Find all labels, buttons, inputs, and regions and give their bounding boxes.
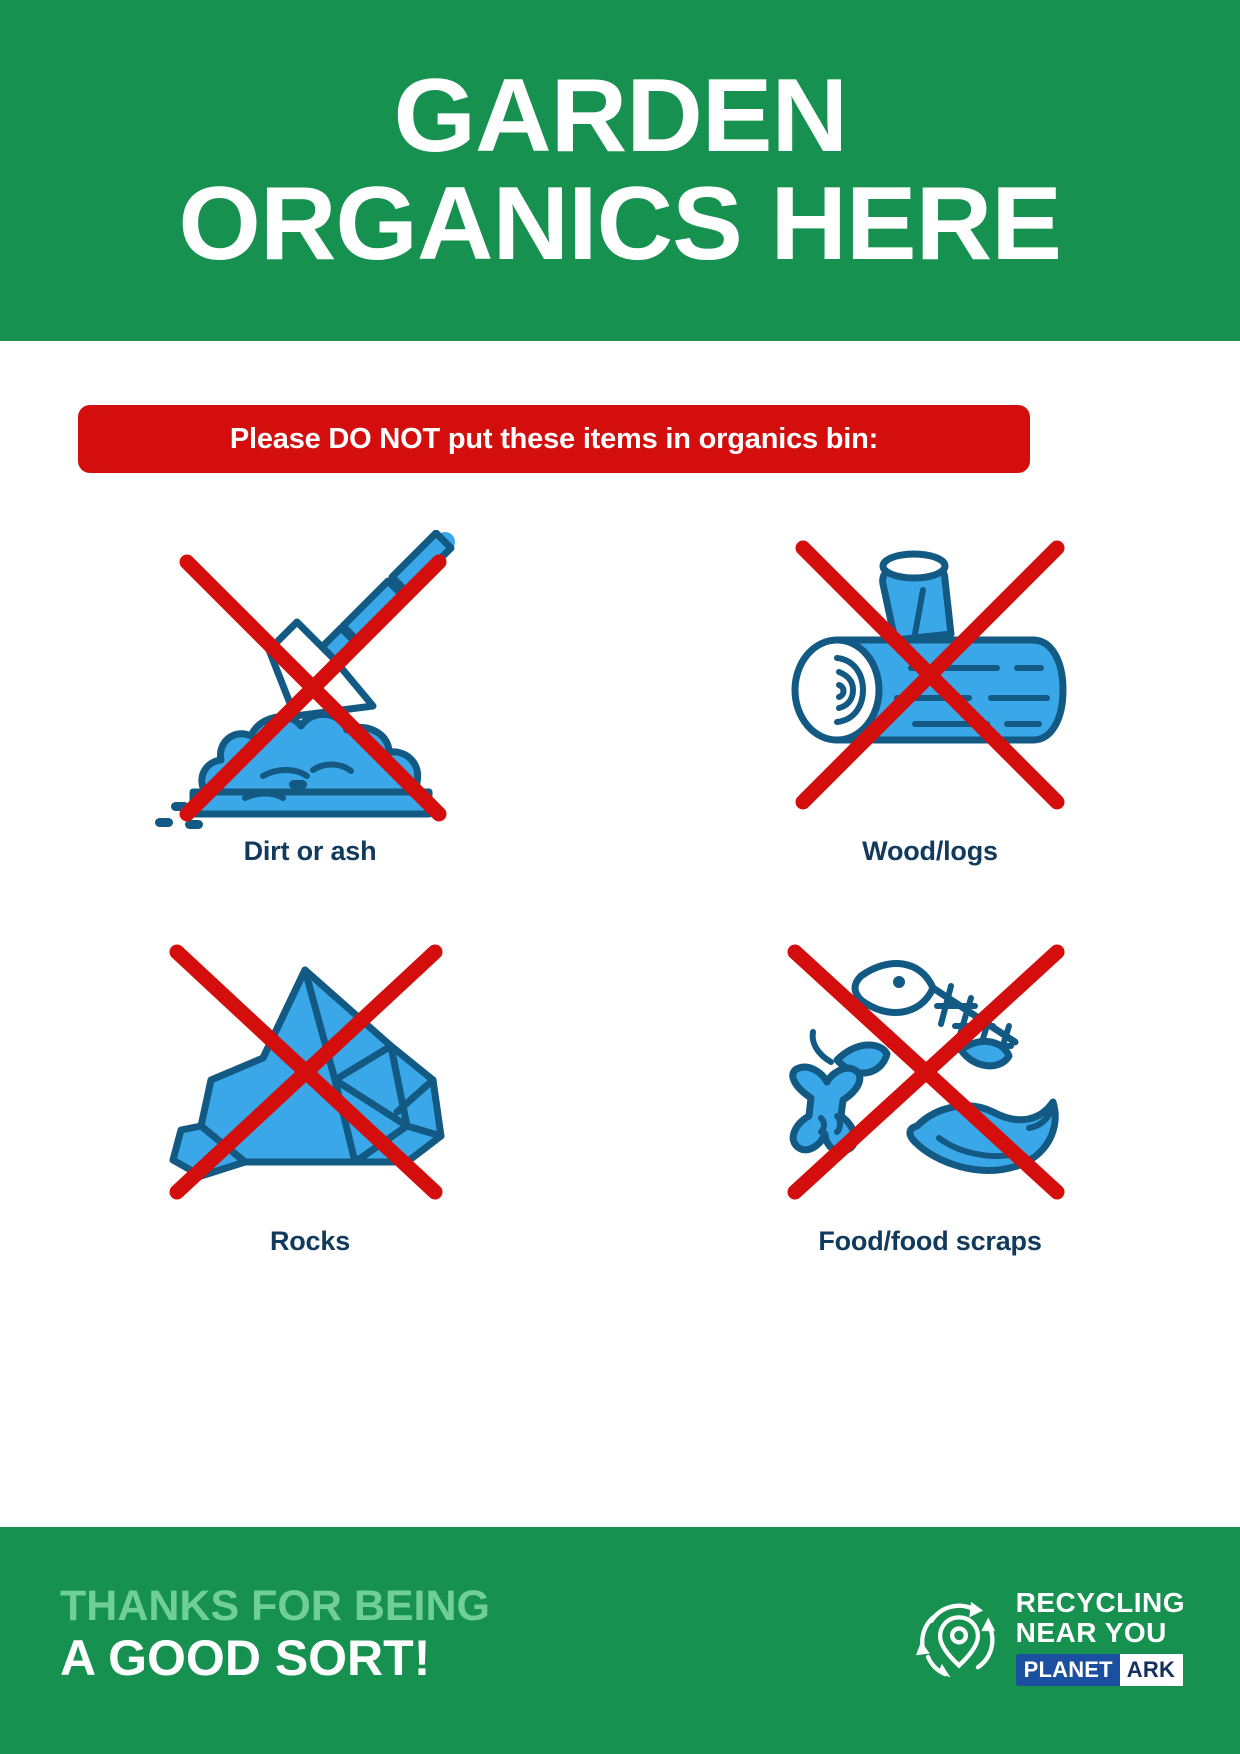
do-not-banner-text: Please DO NOT put these items in organic… bbox=[230, 423, 878, 456]
log-icon bbox=[765, 530, 1095, 830]
prohibited-items-grid: Dirt or ash bbox=[0, 530, 1240, 1320]
planet-ark-badge: PLANET ARK bbox=[1016, 1654, 1185, 1686]
thanks-line-2: A GOOD SORT! bbox=[60, 1633, 490, 1684]
item-label: Wood/logs bbox=[862, 836, 998, 867]
food-scraps-icon bbox=[765, 930, 1095, 1220]
item-wood-logs: Wood/logs bbox=[620, 530, 1240, 930]
planet-ark-badge-left: PLANET bbox=[1016, 1654, 1120, 1686]
poster: GARDEN ORGANICS HERE Please DO NOT put t… bbox=[0, 0, 1240, 1754]
poster-header: GARDEN ORGANICS HERE bbox=[0, 0, 1240, 341]
thanks-message: THANKS FOR BEING A GOOD SORT! bbox=[60, 1585, 490, 1684]
rocks-icon bbox=[145, 930, 475, 1220]
logo-wordmark: RECYCLING NEAR YOU PLANET ARK bbox=[1016, 1589, 1185, 1686]
item-label: Dirt or ash bbox=[244, 836, 377, 867]
header-title-line2: ORGANICS HERE bbox=[179, 176, 1062, 274]
thanks-line-1: THANKS FOR BEING bbox=[60, 1585, 490, 1629]
dirt-shovel-icon bbox=[145, 530, 475, 830]
planet-ark-badge-right: ARK bbox=[1120, 1654, 1183, 1686]
item-label: Rocks bbox=[270, 1226, 350, 1257]
logo-line-1: RECYCLING bbox=[1016, 1589, 1185, 1617]
recycling-pin-icon bbox=[916, 1595, 1002, 1681]
item-label: Food/food scraps bbox=[818, 1226, 1041, 1257]
logo-line-2: NEAR YOU bbox=[1016, 1619, 1185, 1647]
do-not-banner: Please DO NOT put these items in organic… bbox=[78, 405, 1030, 473]
poster-footer: THANKS FOR BEING A GOOD SORT! bbox=[0, 1527, 1240, 1754]
recycling-near-you-logo: RECYCLING NEAR YOU PLANET ARK bbox=[916, 1589, 1185, 1686]
header-title-line1: GARDEN bbox=[393, 68, 847, 166]
item-food-scraps: Food/food scraps bbox=[620, 930, 1240, 1320]
item-dirt-or-ash: Dirt or ash bbox=[0, 530, 620, 930]
item-rocks: Rocks bbox=[0, 930, 620, 1320]
